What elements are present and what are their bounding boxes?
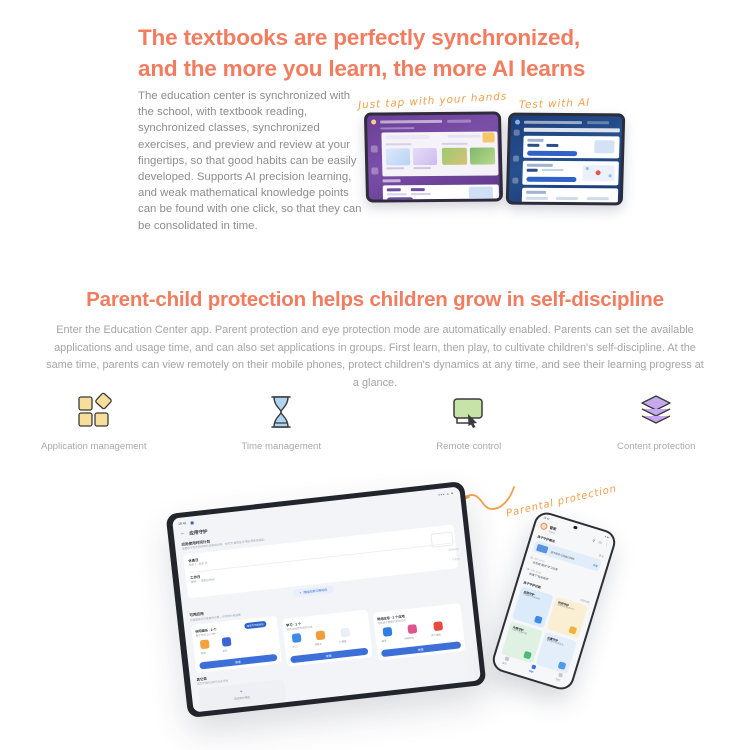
- tablet-ai-card-2-button[interactable]: [527, 177, 577, 182]
- status-app-icon: [190, 521, 193, 524]
- tablet-ai-topnav: [524, 121, 582, 124]
- app-label: 视频: [200, 651, 205, 656]
- tablet-parental-control[interactable]: 16:41 ●●● ▲ ■ ← 应用守护 应用使用时间计划 设置孩子在不同时间段…: [166, 481, 487, 718]
- search-icon[interactable]: ⚲: [592, 539, 596, 544]
- section1-title: The textbooks are perfectly synchronized…: [138, 22, 658, 84]
- feature-label: Time management: [241, 441, 321, 452]
- handwritten-label-left: Just tap with your hands: [358, 90, 508, 111]
- app-icon-textbook[interactable]: [315, 630, 325, 640]
- tablet-ai-sidebar-item-1[interactable]: [514, 130, 520, 136]
- feature-label: Remote control: [436, 441, 501, 452]
- app-icon-message[interactable]: [407, 624, 417, 634]
- tablet-subnav: [380, 127, 414, 130]
- tablet-tile-caption-2: [413, 167, 431, 169]
- phone-app-sub: 守护中: [548, 529, 556, 535]
- feature-application-management: Application management: [0, 392, 188, 452]
- feature-time-management: Time management: [188, 392, 376, 452]
- app-label: 通话: [381, 639, 386, 644]
- handwritten-label-phone: Parental protection: [505, 483, 618, 519]
- tablet-lower-label: [383, 179, 401, 182]
- tablet-lower-title-2: [411, 188, 425, 191]
- phone-list-bullet: [527, 568, 529, 570]
- feature-remote-control: Remote control: [375, 392, 563, 452]
- tablet-sidebar-item-1[interactable]: [371, 145, 378, 152]
- tablet-sidebar-item-2[interactable]: [371, 167, 378, 174]
- schedule-meta-2: 不可用: [452, 557, 460, 562]
- handwritten-label-right: Test with AI: [519, 97, 591, 111]
- phone-status-time: 16:41: [543, 516, 550, 521]
- tablet-ai-test-screen: [509, 116, 622, 203]
- tablet-ai-avatar-icon: [515, 120, 520, 125]
- layers-icon: [633, 392, 679, 432]
- section2-title: Parent-child protection helps children g…: [0, 288, 750, 312]
- tablet-ai-card-3-item-2[interactable]: [556, 197, 578, 200]
- plus-icon: +: [240, 690, 243, 695]
- phone-list-bullet: [531, 557, 533, 559]
- schedule-meta-1: 可用时段: [448, 547, 459, 552]
- phone-tab-home[interactable]: 首页: [501, 661, 507, 666]
- tablet-ai-card-3-label: [526, 191, 546, 194]
- back-arrow-icon[interactable]: ←: [180, 530, 186, 537]
- tablet-tile-1[interactable]: [386, 148, 410, 165]
- tablet-tile-4[interactable]: [470, 147, 495, 164]
- tablet-ai-card-1-button[interactable]: [527, 151, 577, 156]
- page-title: 应用守护: [189, 528, 208, 536]
- tablet-ai-card-1-illustration: [594, 140, 614, 153]
- section1-title-line1: The textbooks are perfectly synchronized…: [138, 22, 658, 53]
- squares-icon: [71, 392, 117, 432]
- more-icon[interactable]: ⋮: [604, 543, 609, 548]
- phone-camera-punchhole: [573, 526, 577, 530]
- phone-screen: 16:41 ▲■□ 管家 守护中 ⚲ ☉ ⋮ 孩子守护概览 更多 孩子的学习动态…: [493, 512, 616, 689]
- tablet-lower-illustration: [469, 186, 493, 199]
- phone-app-logo-icon: [540, 522, 549, 531]
- tablet-ai-sidebar-item-2[interactable]: [513, 156, 519, 162]
- plus-icon: +: [299, 591, 301, 595]
- tablet-avatar-icon: [371, 120, 376, 125]
- phone-parental-app[interactable]: 16:41 ▲■□ 管家 守护中 ⚲ ☉ ⋮ 孩子守护概览 更多 孩子的学习动态…: [490, 509, 619, 692]
- tablet-topnav-right: [447, 120, 471, 123]
- phone-section-action[interactable]: 更多: [598, 554, 604, 559]
- add-schedule-button[interactable]: + 添加应用可用时段: [292, 585, 334, 598]
- tablet-education-center-screen: [367, 114, 500, 199]
- tablet-ai-card-2-title: [527, 169, 538, 172]
- app-label: 学习: [292, 644, 297, 649]
- app-icon-weather[interactable]: [433, 621, 443, 631]
- schedule-illustration: [430, 532, 453, 548]
- app-icon-study[interactable]: [291, 633, 301, 643]
- monitor-cursor-icon: [446, 392, 492, 432]
- section1-body: The education center is synchronized wit…: [138, 88, 366, 234]
- phone-tab-guard[interactable]: 守护: [528, 669, 534, 674]
- tablet-card-meta: [448, 135, 481, 138]
- tablet-tile-3[interactable]: [442, 148, 467, 165]
- feature-content-protection: Content protection: [563, 392, 750, 452]
- tablet-topnav: [380, 120, 442, 124]
- bell-icon[interactable]: ☉: [598, 541, 602, 546]
- tablet-tile-caption-1: [386, 167, 404, 169]
- app-icon-call[interactable]: [382, 627, 392, 637]
- tablet-ai-card-1-label: [528, 139, 544, 142]
- tablet-ai-card-2-label: [527, 164, 553, 167]
- promo-page: The textbooks are perfectly synchronized…: [0, 0, 750, 750]
- app-icon-calculator[interactable]: [340, 628, 350, 638]
- tablet-promo-badge: [483, 132, 495, 142]
- section2-body: Enter the Education Center app. Parent p…: [45, 322, 705, 392]
- add-app-group-label: 添加到应用组: [234, 695, 250, 701]
- tablet-ai-banner: [524, 128, 620, 133]
- status-time: 16:41: [178, 521, 187, 526]
- hourglass-icon: [258, 392, 304, 432]
- tablet-lower-cta-button[interactable]: [387, 197, 413, 199]
- app-label: 音乐: [222, 648, 227, 653]
- tablet-tile-2[interactable]: [413, 148, 437, 165]
- tablet-ai-card-1-title2: [547, 144, 559, 147]
- feature-label: Content protection: [617, 441, 695, 452]
- tablet-lower-title: [387, 188, 401, 191]
- status-indicators: ●●● ▲ ■: [438, 491, 454, 497]
- tablet-lower-sub-2: [411, 193, 431, 195]
- tablet-ai-topnav-right: [587, 121, 609, 124]
- phone-status-indicators: ▲■□: [604, 535, 611, 540]
- section1-title-line2: and the more you learn, the more AI lear…: [138, 53, 658, 84]
- app-icon-music[interactable]: [221, 637, 231, 647]
- app-label: 课程本: [314, 642, 322, 647]
- tablet-ai-card-3-item-3[interactable]: [587, 197, 609, 200]
- tablet-ai-sidebar-item-3[interactable]: [512, 178, 518, 184]
- tablet-search-input[interactable]: [386, 135, 430, 139]
- tablet-ai-card-1-title: [528, 144, 540, 147]
- tablet-parental-control-screen: 16:41 ●●● ▲ ■ ← 应用守护 应用使用时间计划 设置孩子在不同时间段…: [172, 487, 481, 713]
- tablet-education-center[interactable]: [364, 111, 503, 202]
- add-schedule-label: 添加应用可用时段: [303, 588, 327, 595]
- feature-list: Application management Time management: [0, 392, 750, 452]
- tablet-lower-sub: [387, 193, 407, 195]
- feature-label: Application management: [41, 441, 147, 452]
- phone-tab-mine[interactable]: 我的: [555, 677, 561, 682]
- app-icon-video[interactable]: [199, 639, 209, 649]
- app-label: 计算器: [339, 639, 347, 644]
- tablet-ai-test[interactable]: [506, 113, 626, 206]
- tablet-ai-card-3-item-1[interactable]: [526, 197, 548, 200]
